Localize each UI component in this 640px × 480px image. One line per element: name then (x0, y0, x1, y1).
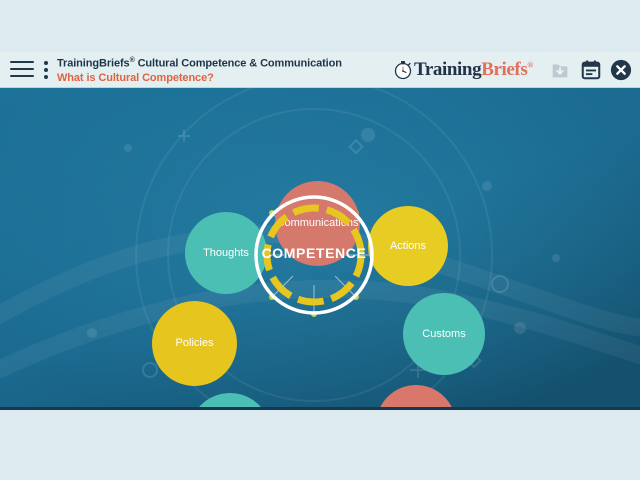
more-options-icon[interactable] (42, 61, 50, 79)
hamburger-line (10, 68, 34, 70)
center-hub: COMPETENCE (252, 193, 376, 317)
concept-node[interactable]: Policies (152, 301, 237, 386)
trainingbriefs-logo[interactable]: TrainingBriefs® (393, 58, 533, 82)
concept-node-label: Actions (386, 240, 430, 252)
stage-baseline (0, 407, 640, 410)
kebab-dot (44, 75, 48, 79)
hamburger-line (10, 61, 34, 63)
hamburger-menu-icon[interactable] (10, 61, 34, 79)
brand-registered-mark: ® (527, 61, 533, 70)
concept-node-label: Customs (418, 328, 469, 340)
course-player: TrainingBriefs® Cultural Competence & Co… (0, 0, 640, 480)
concept-node-label: Policies (172, 337, 218, 349)
stopwatch-icon (393, 60, 413, 80)
player-header: TrainingBriefs® Cultural Competence & Co… (0, 52, 640, 88)
lesson-title: What is Cultural Competence? (57, 73, 342, 85)
course-title: TrainingBriefs® Cultural Competence & Co… (57, 57, 342, 70)
kebab-dot (44, 68, 48, 72)
concept-node[interactable]: Customs (403, 293, 485, 375)
kebab-dot (44, 61, 48, 65)
brand-briefs: Briefs (481, 59, 527, 80)
concept-node[interactable]: Actions (368, 206, 448, 286)
slide-stage: CommunicationsActionsCustomsBeliefsValue… (0, 88, 640, 410)
hamburger-line (10, 75, 34, 77)
download-icon[interactable] (549, 59, 571, 81)
course-title-rest: Cultural Competence & Communication (135, 58, 342, 70)
course-title-brand: TrainingBriefs (57, 58, 130, 70)
close-icon[interactable] (610, 59, 632, 81)
concept-node-label: Thoughts (199, 247, 253, 259)
brand-training: Training (414, 59, 481, 80)
calendar-notes-icon[interactable] (580, 59, 602, 81)
title-block: TrainingBriefs® Cultural Competence & Co… (57, 57, 342, 85)
hub-rings (252, 193, 376, 317)
brand-wordmark: TrainingBriefs® (414, 59, 533, 81)
